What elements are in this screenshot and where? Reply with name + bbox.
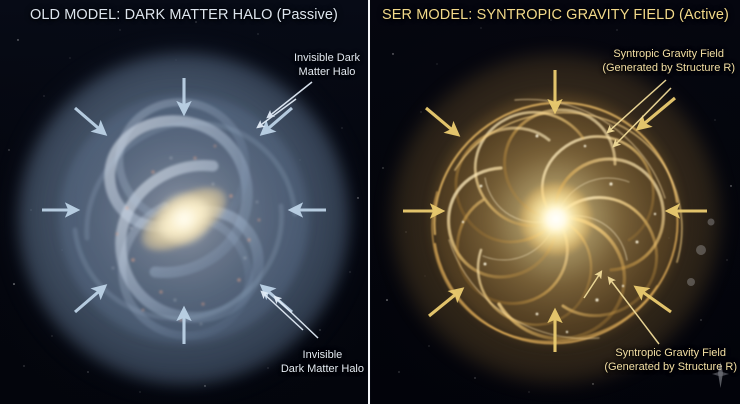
callout-line: Invisible Dark xyxy=(294,52,360,66)
callout-line: Syntropic Gravity Field xyxy=(604,347,737,361)
callout-leader-top-left-panel xyxy=(258,82,312,127)
callout-invisible-dark-matter-halo-top: Invisible Dark Matter Halo xyxy=(294,52,360,79)
callout-line: Invisible xyxy=(281,349,364,363)
callout-invisible-dark-matter-halo-bottom: Invisible Dark Matter Halo xyxy=(281,349,364,376)
panel-title-ser-model: SER MODEL: SYNTROPIC GRAVITY FIELD (Acti… xyxy=(371,7,740,23)
callout-line: (Generated by Structure R) xyxy=(602,62,735,76)
inward-arrow-group xyxy=(403,70,707,352)
figure-canvas: OLD MODEL: DARK MATTER HALO (Passive) In… xyxy=(0,0,740,404)
callout-line: Dark Matter Halo xyxy=(281,363,364,377)
callout-syntropic-gravity-field-top: Syntropic Gravity Field (Generated by St… xyxy=(602,48,735,75)
callout-leader-top-right-panel xyxy=(608,80,671,146)
panel-divider xyxy=(368,0,370,404)
callout-line: Matter Halo xyxy=(294,66,360,80)
callout-line: Syntropic Gravity Field xyxy=(602,48,735,62)
panel-title-old-model: OLD MODEL: DARK MATTER HALO (Passive) xyxy=(0,7,368,23)
callout-leader-bottom-left-panel xyxy=(262,292,318,338)
panel-old-model: OLD MODEL: DARK MATTER HALO (Passive) In… xyxy=(0,0,368,404)
callout-leader-bottom-right-panel xyxy=(584,272,659,344)
sparkle-diamond-watermark xyxy=(712,362,729,388)
panel-ser-model: SER MODEL: SYNTROPIC GRAVITY FIELD (Acti… xyxy=(371,0,740,404)
